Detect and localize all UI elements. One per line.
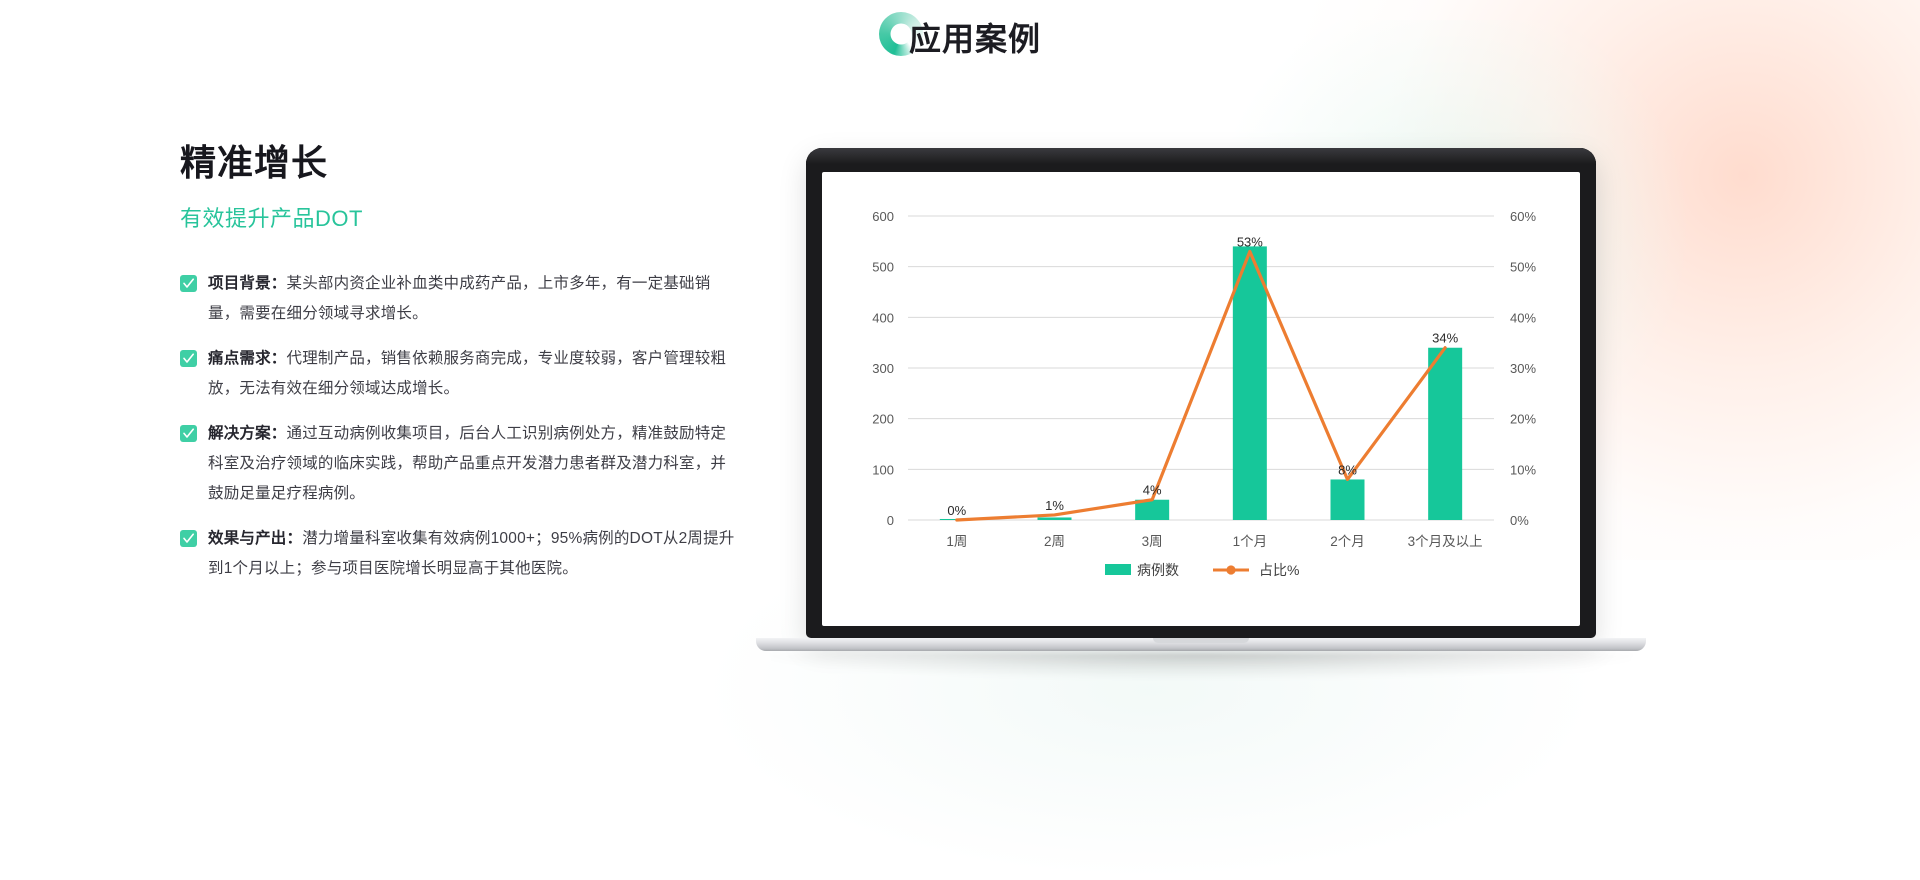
check-icon — [180, 275, 197, 292]
check-icon — [180, 425, 197, 442]
svg-text:0: 0 — [887, 513, 894, 528]
svg-text:30%: 30% — [1510, 361, 1536, 376]
check-icon — [180, 530, 197, 547]
svg-text:1周: 1周 — [946, 534, 967, 549]
check-icon — [180, 350, 197, 367]
svg-text:200: 200 — [872, 412, 894, 427]
svg-text:40%: 40% — [1510, 310, 1536, 325]
svg-text:10%: 10% — [1510, 462, 1536, 477]
svg-text:100: 100 — [872, 462, 894, 477]
laptop-mockup: 01002003004005006000%10%20%30%40%50%60%1… — [806, 148, 1596, 679]
laptop-shadow — [771, 653, 1631, 679]
svg-text:3个月及以上: 3个月及以上 — [1408, 534, 1483, 549]
list-item-text: 痛点需求：代理制产品，销售依赖服务商完成，专业度较弱，客户管理较粗放，无法有效在… — [208, 344, 740, 404]
svg-text:400: 400 — [872, 310, 894, 325]
bar — [1331, 479, 1365, 520]
svg-text:0%: 0% — [947, 503, 966, 518]
svg-text:53%: 53% — [1237, 234, 1263, 249]
svg-text:3周: 3周 — [1142, 534, 1163, 549]
list-item-text: 解决方案：通过互动病例收集项目，后台人工识别病例处方，精准鼓励特定科室及治疗领域… — [208, 419, 740, 509]
svg-text:2周: 2周 — [1044, 534, 1065, 549]
svg-text:34%: 34% — [1432, 331, 1458, 346]
svg-text:500: 500 — [872, 260, 894, 275]
laptop-base — [756, 638, 1646, 651]
list-item-label: 效果与产出： — [208, 530, 302, 547]
list-item-text: 效果与产出：潜力增量科室收集有效病例1000+；95%病例的DOT从2周提升到1… — [208, 524, 740, 584]
list-item: 解决方案：通过互动病例收集项目，后台人工识别病例处方，精准鼓励特定科室及治疗领域… — [180, 419, 740, 509]
list-item-label: 痛点需求： — [208, 350, 287, 367]
svg-text:病例数: 病例数 — [1137, 562, 1179, 578]
page-header: 应用案例 — [0, 6, 1920, 68]
laptop-screen: 01002003004005006000%10%20%30%40%50%60%1… — [822, 172, 1580, 626]
list-item: 效果与产出：潜力增量科室收集有效病例1000+；95%病例的DOT从2周提升到1… — [180, 524, 740, 584]
svg-text:60%: 60% — [1510, 209, 1536, 224]
svg-text:8%: 8% — [1338, 462, 1357, 477]
list-item-body: 代理制产品，销售依赖服务商完成，专业度较弱，客户管理较粗放，无法有效在细分领域达… — [208, 350, 726, 397]
svg-text:0%: 0% — [1510, 513, 1529, 528]
chart-container: 01002003004005006000%10%20%30%40%50%60%1… — [822, 172, 1580, 626]
bar — [1038, 517, 1072, 520]
combo-chart: 01002003004005006000%10%20%30%40%50%60%1… — [822, 172, 1580, 626]
list-item: 痛点需求：代理制产品，销售依赖服务商完成，专业度较弱，客户管理较粗放，无法有效在… — [180, 344, 740, 404]
svg-text:4%: 4% — [1143, 483, 1162, 498]
list-item-text: 项目背景：某头部内资企业补血类中成药产品，上市多年，有一定基础销量，需要在细分领… — [208, 269, 740, 329]
svg-text:20%: 20% — [1510, 412, 1536, 427]
page-title: 应用案例 — [909, 14, 1041, 60]
list-item-body: 通过互动病例收集项目，后台人工识别病例处方，精准鼓励特定科室及治疗领域的临床实践… — [208, 425, 726, 502]
list-item-label: 解决方案： — [208, 425, 287, 442]
section-title: 精准增长 — [180, 140, 740, 185]
list-item-label: 项目背景： — [208, 275, 287, 292]
svg-text:占比%: 占比% — [1259, 562, 1299, 578]
bullet-list: 项目背景：某头部内资企业补血类中成药产品，上市多年，有一定基础销量，需要在细分领… — [180, 269, 740, 584]
list-item: 项目背景：某头部内资企业补血类中成药产品，上市多年，有一定基础销量，需要在细分领… — [180, 269, 740, 329]
svg-text:1%: 1% — [1045, 498, 1064, 513]
section-subtitle: 有效提升产品DOT — [180, 201, 740, 233]
svg-text:300: 300 — [872, 361, 894, 376]
case-study-panel: 精准增长 有效提升产品DOT 项目背景：某头部内资企业补血类中成药产品，上市多年… — [180, 140, 740, 599]
svg-text:2个月: 2个月 — [1330, 534, 1365, 549]
svg-text:1个月: 1个月 — [1233, 534, 1268, 549]
svg-text:600: 600 — [872, 209, 894, 224]
bar — [1428, 348, 1462, 520]
bar — [1233, 246, 1267, 520]
svg-text:50%: 50% — [1510, 260, 1536, 275]
laptop-lid: 01002003004005006000%10%20%30%40%50%60%1… — [806, 148, 1596, 638]
